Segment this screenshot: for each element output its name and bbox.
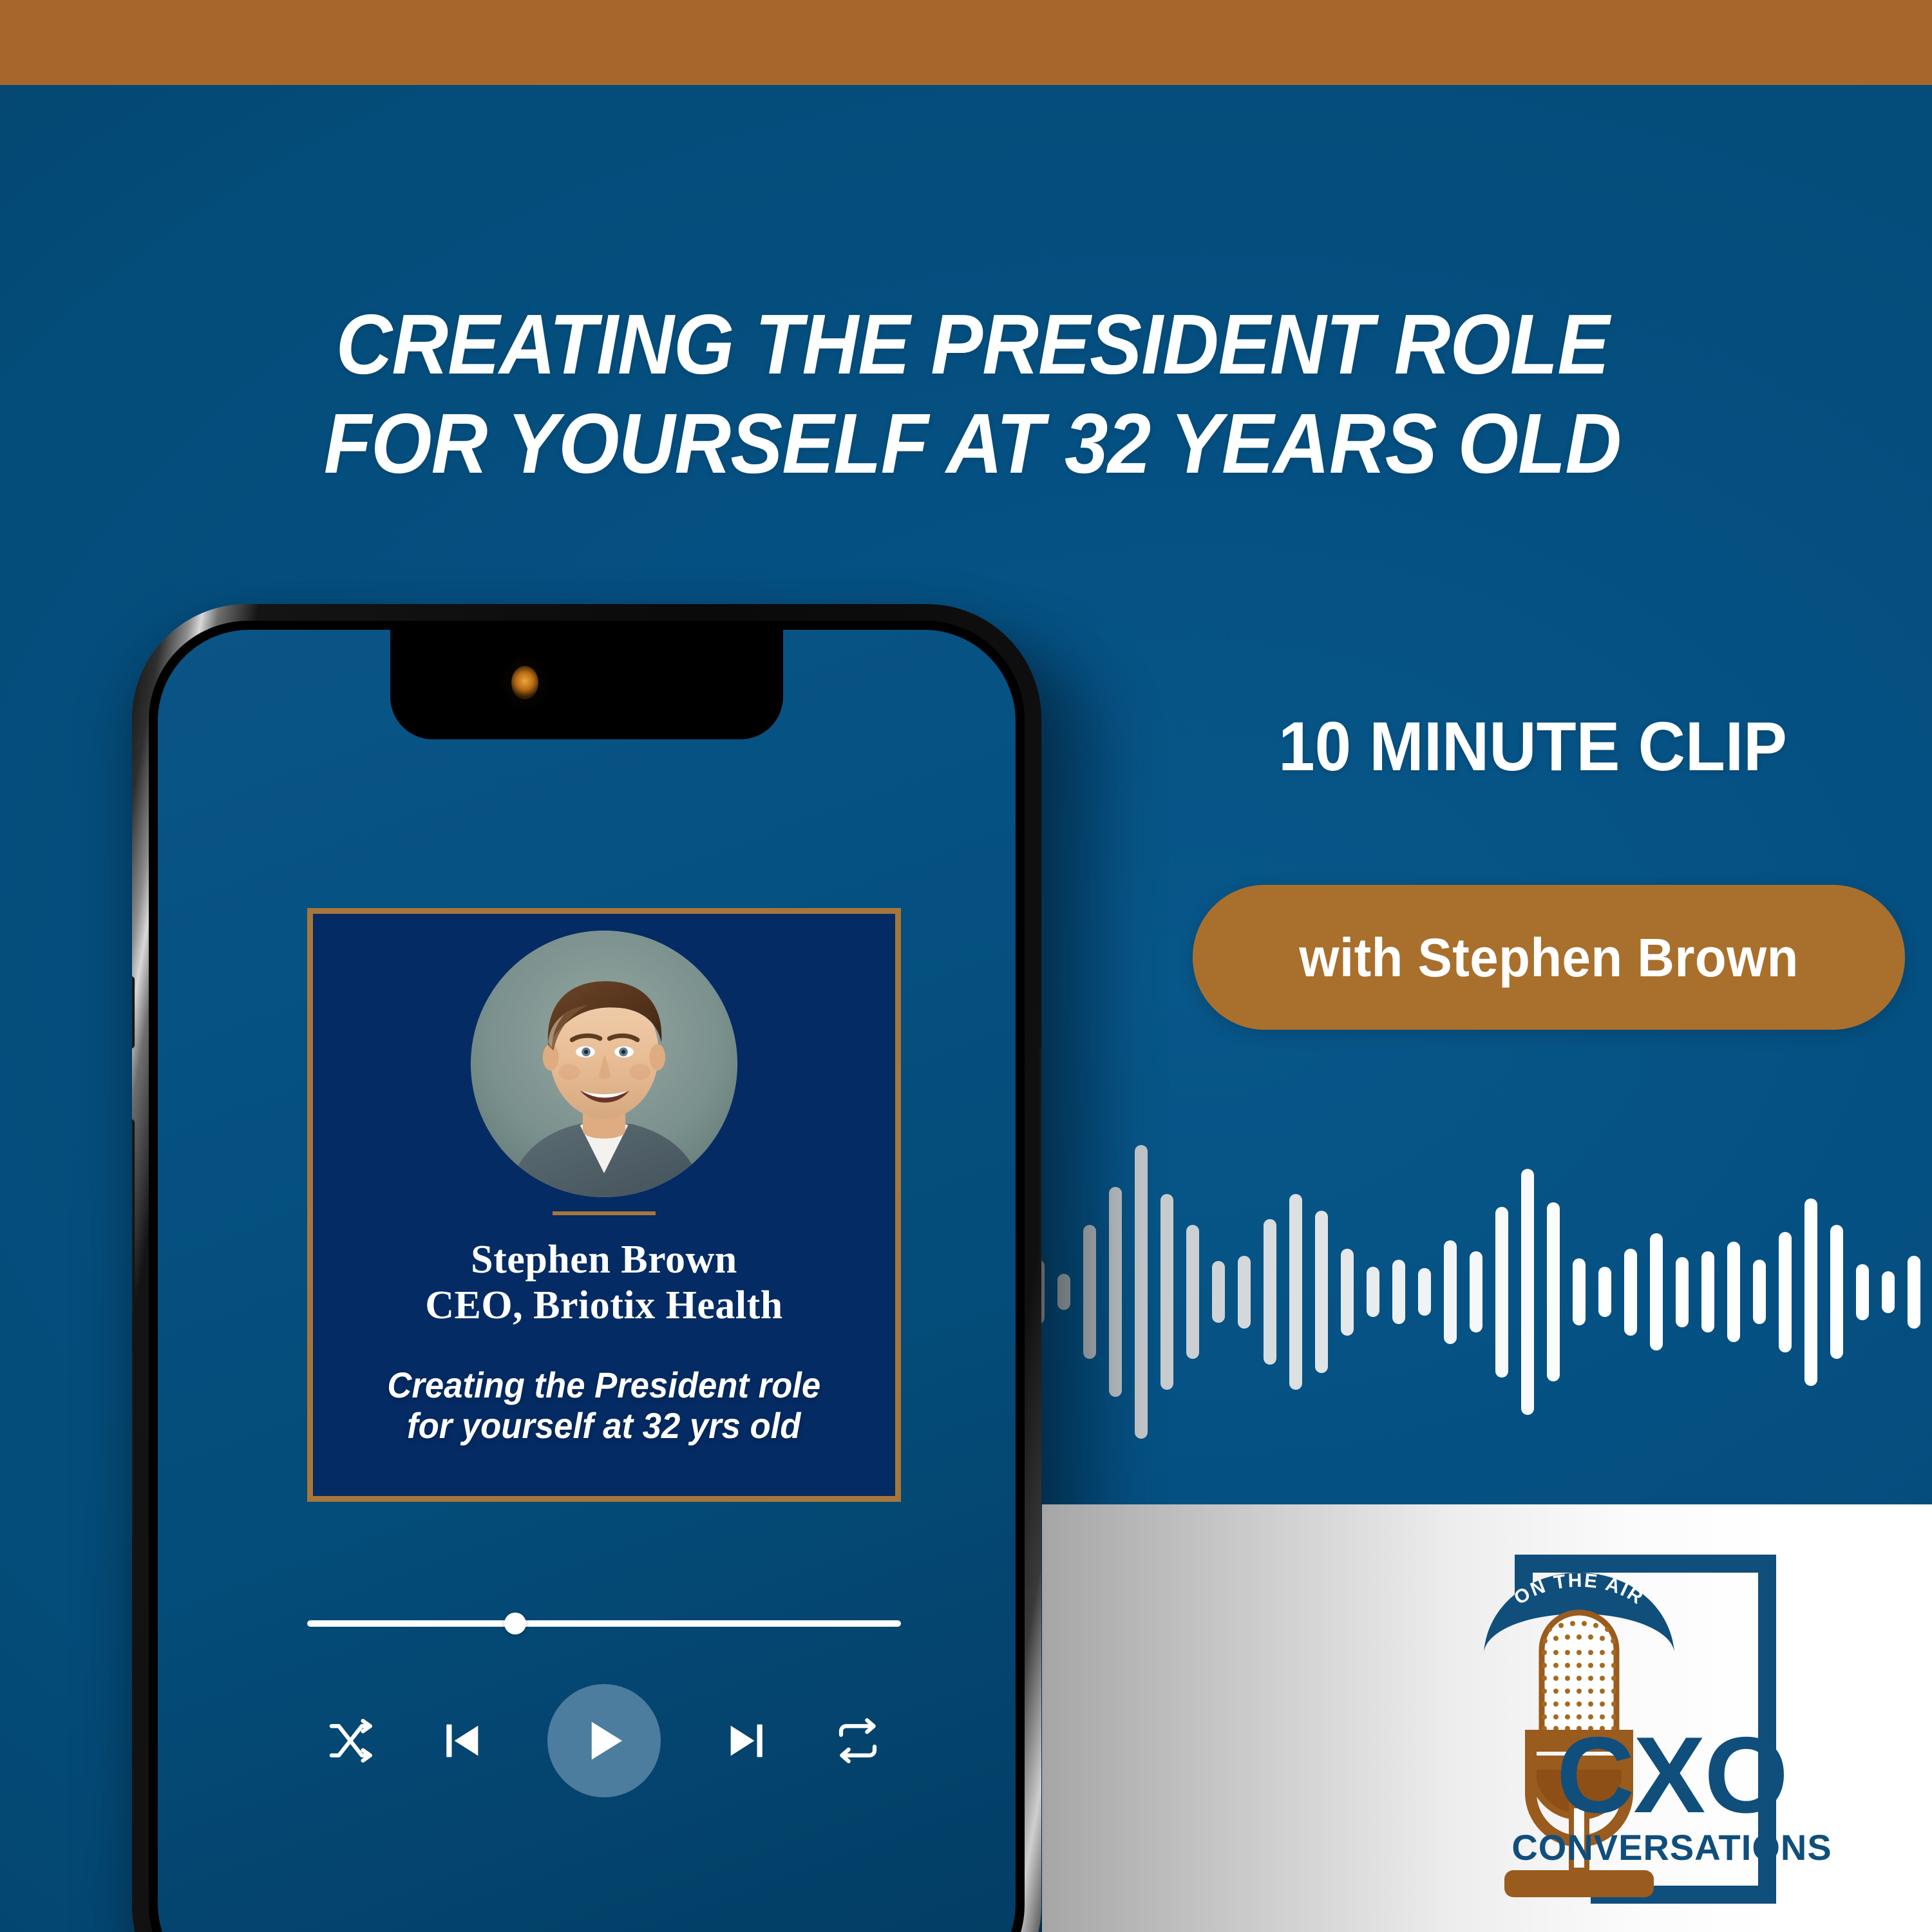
- skip-next-icon[interactable]: [723, 1716, 772, 1765]
- skip-previous-icon[interactable]: [437, 1716, 486, 1765]
- guest-badge-label: with Stephen Brown: [1299, 931, 1798, 985]
- front-camera-icon: [511, 666, 538, 699]
- cxo-conversations-logo: ON THE AIR: [1445, 1543, 1832, 1932]
- progress-slider[interactable]: [307, 1620, 901, 1627]
- notch: [390, 630, 783, 739]
- cover-episode-title-line-2: for yourself at 32 yrs old: [363, 1406, 845, 1446]
- cover-guest-name: Stephen Brown: [425, 1237, 782, 1283]
- shuffle-icon[interactable]: [325, 1716, 375, 1766]
- podcast-cover-art: Stephen Brown CEO, Briotix Health Creati…: [307, 908, 901, 1502]
- progress-thumb[interactable]: [504, 1613, 526, 1634]
- volume-down-button[interactable]: [132, 1350, 135, 1538]
- phone-bezel: Stephen Brown CEO, Briotix Health Creati…: [149, 621, 1025, 1932]
- play-icon[interactable]: [547, 1684, 661, 1797]
- headline-line-1: CREATING THE PRESIDENT ROLE: [336, 297, 1609, 392]
- progress-track[interactable]: [307, 1620, 901, 1627]
- player-controls: [307, 1667, 901, 1815]
- mute-switch-button[interactable]: [132, 976, 135, 1048]
- cover-guest-block: Stephen Brown CEO, Briotix Health: [425, 1237, 782, 1328]
- volume-up-button[interactable]: [132, 1119, 135, 1307]
- repeat-icon[interactable]: [833, 1716, 883, 1766]
- cover-divider: [553, 1211, 656, 1215]
- guest-badge: with Stephen Brown: [1193, 885, 1905, 1030]
- cover-guest-role: CEO, Briotix Health: [425, 1283, 782, 1329]
- phone-screen: Stephen Brown CEO, Briotix Health Creati…: [158, 630, 1016, 1932]
- logo-wordmark: CXO: [1557, 1714, 1787, 1835]
- cover-episode-title-line-1: Creating the President role: [363, 1365, 845, 1406]
- logo-subtitle: CONVERSATIONS: [1511, 1827, 1832, 1868]
- power-button[interactable]: [1039, 1048, 1041, 1261]
- avatar: [471, 931, 737, 1197]
- cover-episode-title: Creating the President role for yourself…: [363, 1365, 845, 1446]
- phone-mockup: Stephen Brown CEO, Briotix Health Creati…: [132, 604, 1041, 1932]
- clip-length-label: 10 MINUTE CLIP: [1224, 712, 1842, 781]
- podcast-promo-graphic: CREATING THE PRESIDENT ROLE FOR YOURSELF…: [0, 0, 1932, 1932]
- top-accent-band: [0, 0, 1932, 85]
- page-title: CREATING THE PRESIDENT ROLE FOR YOURSELF…: [155, 295, 1790, 492]
- headline-line-2: FOR YOURSELF AT 32 YEARS OLD: [155, 394, 1790, 493]
